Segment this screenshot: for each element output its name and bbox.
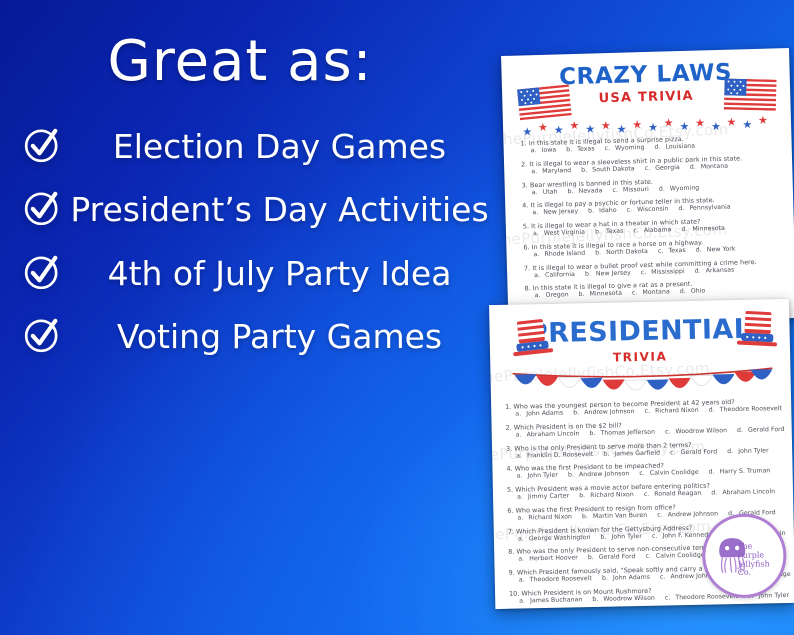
question-list: 1. In this state it is illegal to send a… — [520, 132, 788, 326]
uncle-sam-hat-icon — [506, 316, 558, 363]
american-flag-icon — [517, 84, 572, 120]
check-circle-icon — [22, 252, 62, 292]
check-circle-icon — [22, 188, 62, 228]
presidential-sheet: ThePurpleJellyfishCo.Etsy.com ThePurpleJ… — [489, 299, 794, 609]
list-item-label: President’s Day Activities — [60, 191, 499, 228]
trivia-question: 2. It is illegal to wear a sleeveless sh… — [521, 153, 784, 176]
trivia-question: 3. Bear wrestling is banned in this stat… — [522, 174, 785, 197]
trivia-question: 3. Who is the only President to serve mo… — [506, 438, 786, 460]
purple-jellyfish-logo: The Purple Jellyfish Co. — [701, 513, 787, 599]
trivia-question: 2. Which President is on the $2 bill?a.A… — [506, 418, 786, 440]
trivia-question: 5. Which President was a movie actor bef… — [507, 480, 787, 502]
list-item: President’s Day Activities — [10, 191, 505, 228]
check-circle-icon — [22, 125, 62, 165]
uncle-sam-hat-icon — [733, 308, 783, 352]
list-item: Election Day Games — [10, 128, 505, 165]
list-item: Voting Party Games — [10, 318, 505, 355]
trivia-question: 7. It is illegal to wear a bullet proof … — [524, 257, 787, 280]
trivia-question: 5. It is illegal to wear a hat in a thea… — [523, 215, 786, 238]
promo-graphic: Great as: Election Day Games — [0, 0, 794, 635]
check-circle-icon — [22, 315, 62, 355]
trivia-question: 4. It is illegal to pay a psychic or for… — [522, 194, 785, 217]
trivia-question: 4. Who was the first President to be imp… — [506, 459, 786, 481]
benefits-list: Election Day Games President’s Day Activ… — [10, 128, 505, 381]
trivia-question: 6. In this state it is illegal to race a… — [523, 236, 786, 259]
list-item-label: 4th of July Party Idea — [60, 255, 499, 292]
patriotic-bunting — [512, 365, 773, 400]
american-flag-icon — [724, 78, 777, 110]
page-title: Great as: — [0, 34, 480, 90]
crazy-laws-sheet: ThePurpleJellyfishCo.Etsy.com ThePurpleJ… — [501, 48, 794, 326]
trivia-question: 1. Who was the youngest person to become… — [505, 397, 785, 419]
trivia-question: 8. In this state it is illegal to give a… — [524, 277, 787, 300]
list-item-label: Election Day Games — [60, 128, 499, 165]
left-text-panel: Great as: Election Day Games — [0, 0, 505, 635]
list-item: 4th of July Party Idea — [10, 255, 505, 292]
logo-text: The Purple Jellyfish Co. — [737, 542, 778, 578]
list-item-label: Voting Party Games — [60, 318, 499, 355]
